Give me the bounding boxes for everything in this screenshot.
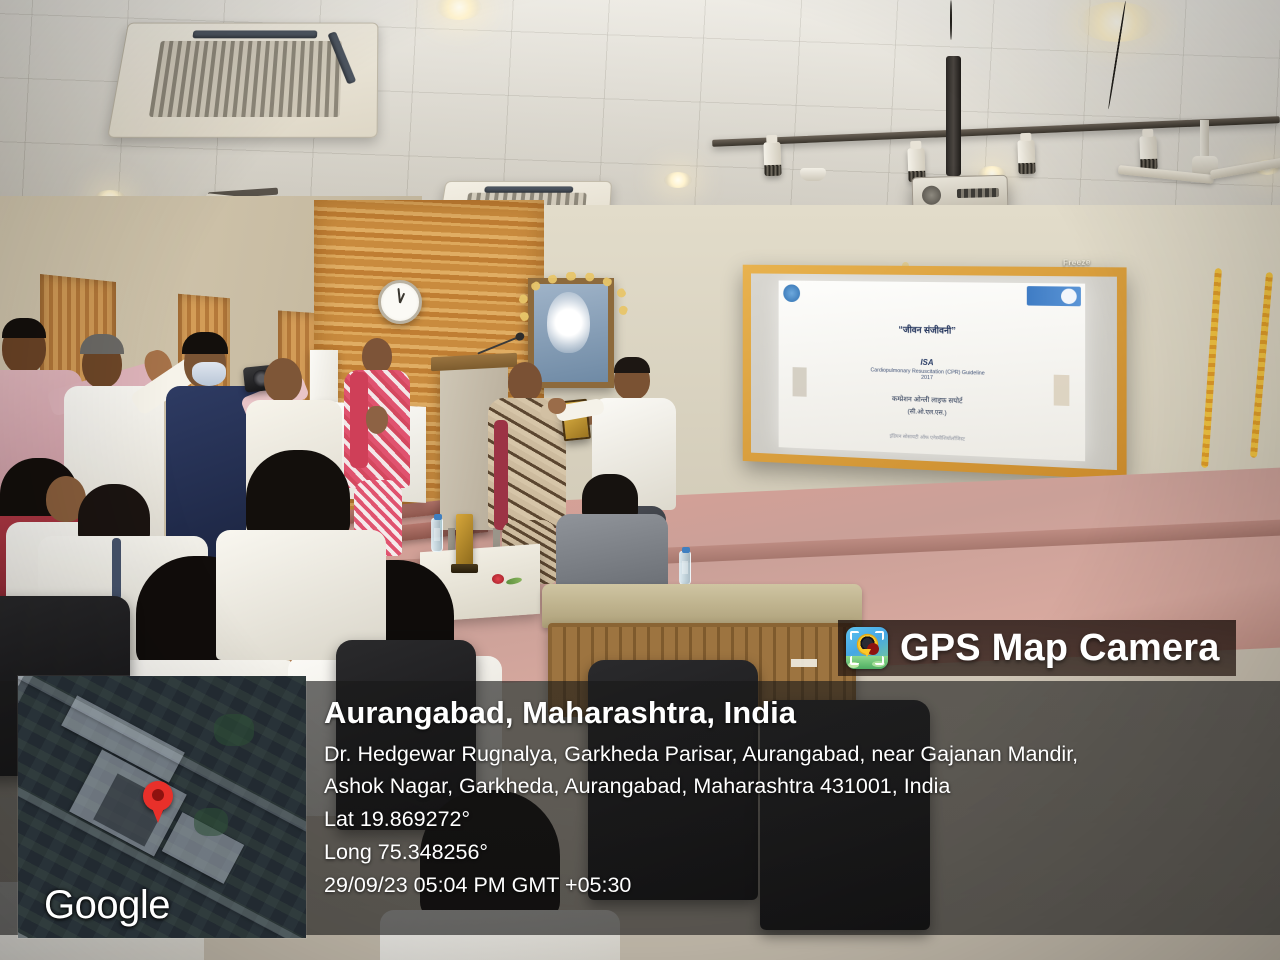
slide-org: ISA	[920, 357, 933, 366]
location-city: Aurangabad, Maharashtra, India	[324, 694, 1254, 732]
slide-subtitle-2: 2017	[921, 374, 933, 380]
lanyard	[112, 538, 121, 600]
bottle-cap	[434, 514, 442, 520]
gps-location-text: Aurangabad, Maharashtra, India Dr. Hedge…	[324, 694, 1254, 901]
ac-louver-top	[484, 186, 573, 192]
ceiling-cable	[950, 0, 952, 40]
ceiling-fan-rod	[1200, 120, 1209, 158]
ceiling-downlight	[1078, 2, 1156, 42]
hair	[78, 484, 150, 542]
location-address-line-1: Dr. Hedgewar Rugnalya, Garkheda Parisar,…	[324, 738, 1254, 771]
location-timestamp: 29/09/23 05:04 PM GMT +05:30	[324, 869, 1254, 902]
viewfinder-bracket-icon	[850, 656, 859, 665]
projector-ports	[957, 188, 999, 198]
map-pin-icon	[143, 781, 173, 811]
bottle-cap	[682, 547, 690, 553]
map-green-area	[214, 714, 254, 746]
projection-screen: “जीवन संजीवनी” ISA Cardiopulmonary Resus…	[751, 273, 1117, 470]
presentation-slide: “जीवन संजीवनी” ISA Cardiopulmonary Resus…	[778, 281, 1085, 461]
isa-logo-icon	[1027, 287, 1081, 307]
location-longitude: Long 75.348256°	[324, 836, 1254, 869]
ceiling-downlight	[664, 172, 692, 188]
viewfinder-bracket-icon	[850, 631, 859, 640]
smoke-detector	[800, 168, 826, 181]
screenshot-root: “जीवन संजीवनी” ISA Cardiopulmonary Resus…	[0, 0, 1280, 960]
hospital-logo-icon	[783, 285, 800, 303]
head	[264, 358, 302, 402]
hair	[246, 450, 350, 538]
track-spotlight	[1139, 136, 1157, 171]
slide-decor-block	[793, 368, 807, 398]
rose-flower	[492, 574, 504, 584]
gps-map-thumbnail[interactable]: Google	[18, 676, 306, 938]
projector-mount-pole	[946, 56, 961, 176]
hands-namaste	[366, 406, 388, 434]
face-mask-icon	[192, 362, 226, 386]
projection-screen-frame: “जीवन संजीवनी” ISA Cardiopulmonary Resus…	[743, 265, 1127, 480]
slide-devanagari-2: (सी.ओ.एल.एस.)	[908, 406, 947, 416]
projector-freeze-label: Freeze	[1063, 258, 1091, 268]
viewfinder-bracket-icon	[875, 631, 884, 640]
track-spotlight	[1017, 140, 1035, 175]
bench-label-tag	[791, 659, 817, 667]
location-address-line-2: Ashok Nagar, Garkheda, Aurangabad, Mahar…	[324, 770, 1254, 803]
wall-clock	[378, 280, 422, 324]
water-bottle	[431, 518, 443, 552]
ac-louver-top	[192, 30, 317, 38]
location-latitude: Lat 19.869272°	[324, 803, 1254, 836]
water-bottle	[679, 551, 691, 585]
camera-lens-pin-icon	[858, 635, 877, 654]
dupatta	[494, 420, 508, 530]
hand	[548, 398, 566, 414]
slide-devanagari-1: कम्प्रेशन ओन्ली लाइफ सपोर्ट	[892, 395, 963, 406]
projector-lens	[922, 186, 941, 205]
track-spotlight	[763, 142, 781, 177]
hair	[614, 357, 650, 373]
ac-vent-grille	[149, 41, 342, 118]
gps-app-header: GPS Map Camera	[838, 620, 1236, 676]
google-watermark: Google	[44, 883, 170, 928]
slide-decor-block	[1054, 375, 1070, 406]
clock-hand-minute	[397, 288, 401, 303]
viewfinder-bracket-icon	[875, 656, 884, 665]
head	[508, 362, 542, 402]
slide-title: “जीवन संजीवनी”	[899, 322, 956, 336]
trophy	[456, 514, 473, 566]
bench-cushion	[542, 584, 862, 628]
trophy-base	[451, 564, 478, 573]
map-green-area	[194, 808, 228, 836]
slide-footer: इंडियन सोसायटी ऑफ एनेस्थीशियॉलॉजिस्ट	[890, 433, 965, 442]
ac-cassette-unit-left	[107, 23, 378, 138]
head	[362, 338, 392, 374]
gps-map-camera-icon	[846, 627, 888, 669]
hair	[582, 474, 638, 518]
gps-app-title: GPS Map Camera	[900, 627, 1220, 670]
